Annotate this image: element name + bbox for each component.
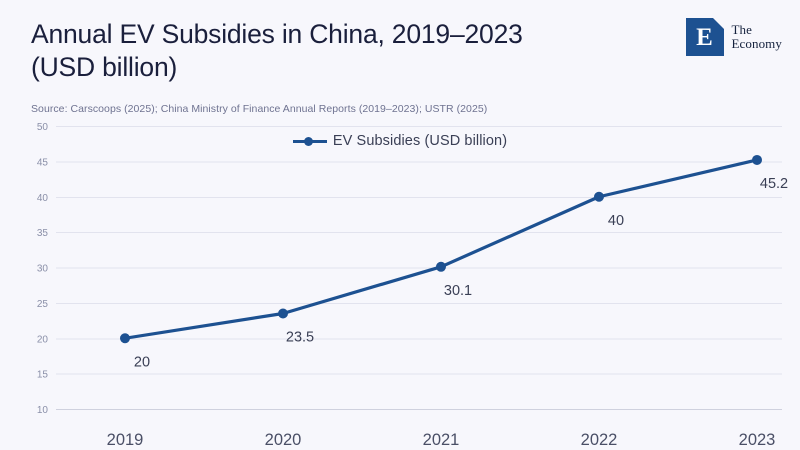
y-axis-tick-label: 35 [37,228,49,239]
chart-plot-area: EV Subsidies (USD billion) 5045403530252… [0,118,800,450]
page-title: Annual EV Subsidies in China, 2019–2023 … [31,18,651,84]
x-axis-tick-label: 2022 [581,431,618,449]
chart-screenshot: Annual EV Subsidies in China, 2019–2023 … [0,0,800,450]
logo-wordmark-line2: Economy [731,36,782,51]
data-point-label: 23.5 [286,329,314,345]
chart-x-axis-labels: 20192020202120222023 [107,431,776,449]
data-point-label: 30.1 [444,283,472,299]
logo-wordmark-line1: The [731,22,752,37]
data-point-label: 45.2 [760,176,788,192]
x-axis-tick-label: 2020 [265,431,302,449]
logo-fold-corner [713,18,724,29]
y-axis-tick-label: 40 [37,193,49,204]
data-point-label: 20 [134,354,150,370]
y-axis-tick-label: 30 [37,264,49,275]
data-point-marker [752,155,762,165]
chart-header: Annual EV Subsidies in China, 2019–2023 … [0,0,800,122]
chart-y-axis-labels: 504540353025201510 [37,122,49,416]
chart-gridlines [56,127,782,410]
logo-mark-icon: E [686,18,724,56]
data-point-marker [594,192,604,202]
x-axis-tick-label: 2019 [107,431,144,449]
y-axis-tick-label: 15 [37,370,49,381]
x-axis-tick-label: 2021 [423,431,460,449]
logo-wordmark: The Economy [731,23,782,51]
data-point-marker [436,262,446,272]
y-axis-tick-label: 20 [37,334,49,345]
x-axis-tick-label: 2023 [739,431,776,449]
data-point-marker [120,333,130,343]
the-economy-logo: E The Economy [686,18,782,56]
series-data-labels: 2023.530.14045.2 [134,176,788,370]
y-axis-tick-label: 50 [37,122,49,133]
source-note: Source: Carscoops (2025); China Ministry… [31,102,487,116]
series-data-points [120,155,762,343]
y-axis-tick-label: 45 [37,157,49,168]
line-chart-svg: 504540353025201510 20192020202120222023 … [0,118,800,450]
series-line-ev-subsidies [125,160,757,338]
data-point-label: 40 [608,213,624,229]
data-point-marker [278,308,288,318]
y-axis-tick-label: 10 [37,405,49,416]
y-axis-tick-label: 25 [37,299,49,310]
